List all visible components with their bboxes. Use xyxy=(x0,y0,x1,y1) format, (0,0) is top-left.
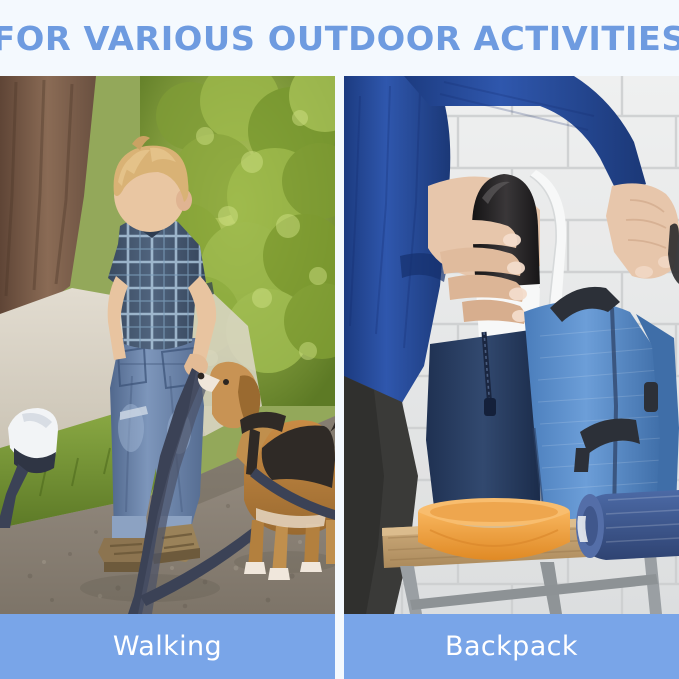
walking-scene-illustration xyxy=(0,76,335,614)
backpack-scene-illustration xyxy=(344,76,679,614)
bottle-into-backpack-photo xyxy=(344,76,679,614)
header-banner: FOR VARIOUS OUTDOOR ACTIVITIES xyxy=(0,0,679,76)
product-infographic: FOR VARIOUS OUTDOOR ACTIVITIES xyxy=(0,0,679,679)
page-title: FOR VARIOUS OUTDOOR ACTIVITIES xyxy=(0,22,679,55)
rolled-navy-towel xyxy=(576,490,679,560)
panel-divider xyxy=(335,76,344,679)
caption-bar-backpack: Backpack xyxy=(344,614,679,679)
backpack-main-body xyxy=(524,301,662,522)
boy-walking-beagle-photo xyxy=(0,76,335,614)
caption-label-walking: Walking xyxy=(113,633,222,660)
panel-row: Walking xyxy=(0,76,679,679)
caption-label-backpack: Backpack xyxy=(445,633,578,660)
panel-backpack: Backpack xyxy=(344,76,679,679)
panel-walking: Walking xyxy=(0,76,335,679)
caption-bar-walking: Walking xyxy=(0,614,335,679)
retractable-leash-handle xyxy=(8,408,58,473)
orange-bowl xyxy=(418,498,570,560)
